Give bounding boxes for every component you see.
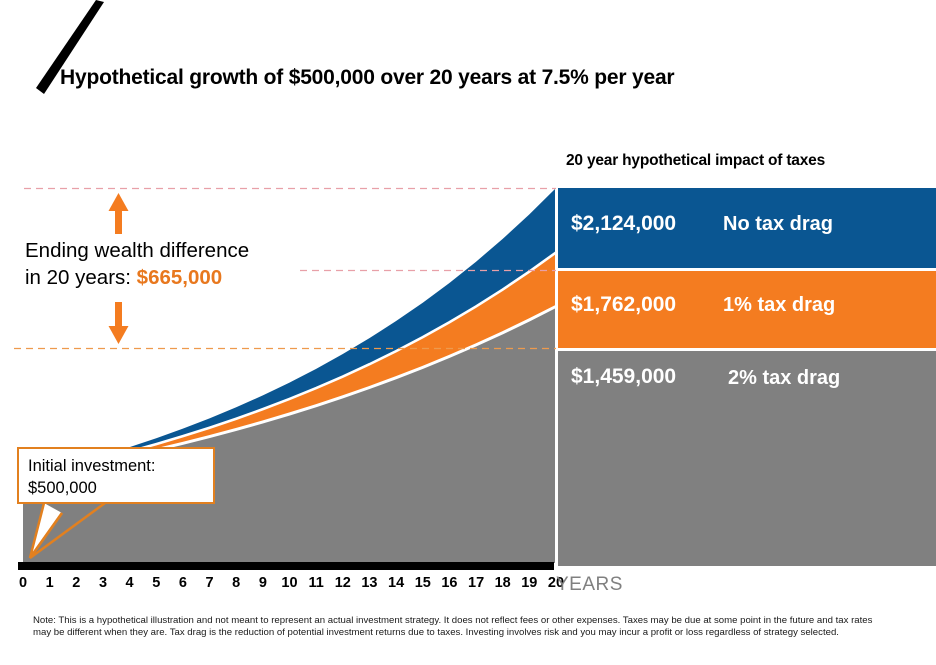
x-axis-tick: 0 bbox=[19, 575, 27, 591]
x-axis-tick: 19 bbox=[521, 575, 537, 591]
value-box-label: 1% tax drag bbox=[723, 294, 835, 317]
value-box-amount: $2,124,000 bbox=[571, 212, 676, 236]
x-axis-tick: 7 bbox=[205, 575, 213, 591]
initial-investment-line2: $500,000 bbox=[28, 477, 155, 499]
x-axis-tick: 3 bbox=[99, 575, 107, 591]
x-axis-tick: 14 bbox=[388, 575, 404, 591]
ending-wealth-line1: Ending wealth difference bbox=[25, 237, 325, 264]
x-axis-tick: 5 bbox=[152, 575, 160, 591]
x-axis-tick: 9 bbox=[259, 575, 267, 591]
x-axis-tick: 8 bbox=[232, 575, 240, 591]
x-axis-tick: 16 bbox=[441, 575, 457, 591]
slide-canvas: Hypothetical growth of $500,000 over 20 … bbox=[0, 0, 936, 665]
value-box-label: No tax drag bbox=[723, 213, 833, 236]
value-box-label: 2% tax drag bbox=[728, 367, 840, 390]
x-axis-title: YEARS bbox=[556, 574, 623, 596]
x-axis-tick: 13 bbox=[361, 575, 377, 591]
ending-wealth-prefix: in 20 years: bbox=[25, 266, 137, 289]
x-axis-tick: 12 bbox=[335, 575, 351, 591]
x-axis-tick: 18 bbox=[495, 575, 511, 591]
x-axis-tick: 2 bbox=[72, 575, 80, 591]
x-axis-tick: 15 bbox=[415, 575, 431, 591]
x-axis-tick-labels: 01234567891011121314151617181920 bbox=[0, 575, 560, 595]
ending-wealth-annotation: Ending wealth difference in 20 years: $6… bbox=[25, 237, 325, 291]
value-box-amount: $1,459,000 bbox=[571, 365, 676, 389]
x-axis-tick: 6 bbox=[179, 575, 187, 591]
footnote-disclaimer: Note: This is a hypothetical illustratio… bbox=[33, 615, 888, 639]
initial-investment-line1: Initial investment: bbox=[28, 455, 155, 477]
x-axis-bar bbox=[18, 562, 554, 570]
x-axis-tick: 10 bbox=[281, 575, 297, 591]
x-axis-tick: 17 bbox=[468, 575, 484, 591]
ending-wealth-amount: $665,000 bbox=[137, 266, 223, 289]
value-box-1pct-tax-drag[interactable]: $1,762,000 1% tax drag bbox=[558, 271, 936, 348]
ending-wealth-down-arrow bbox=[109, 302, 129, 344]
x-axis-tick: 4 bbox=[126, 575, 134, 591]
ending-wealth-line2: in 20 years: $665,000 bbox=[25, 264, 325, 291]
value-box-amount: $1,762,000 bbox=[571, 293, 676, 317]
ending-wealth-up-arrow bbox=[109, 193, 129, 234]
initial-investment-text: Initial investment: $500,000 bbox=[28, 455, 155, 499]
x-axis-tick: 11 bbox=[309, 575, 324, 591]
value-box-no-tax-drag[interactable]: $2,124,000 No tax drag bbox=[558, 188, 936, 268]
value-box-2pct-tax-drag[interactable]: $1,459,000 2% tax drag bbox=[558, 351, 936, 566]
initial-investment-callout: Initial investment: $500,000 bbox=[17, 447, 215, 504]
x-axis-tick: 1 bbox=[46, 575, 54, 591]
